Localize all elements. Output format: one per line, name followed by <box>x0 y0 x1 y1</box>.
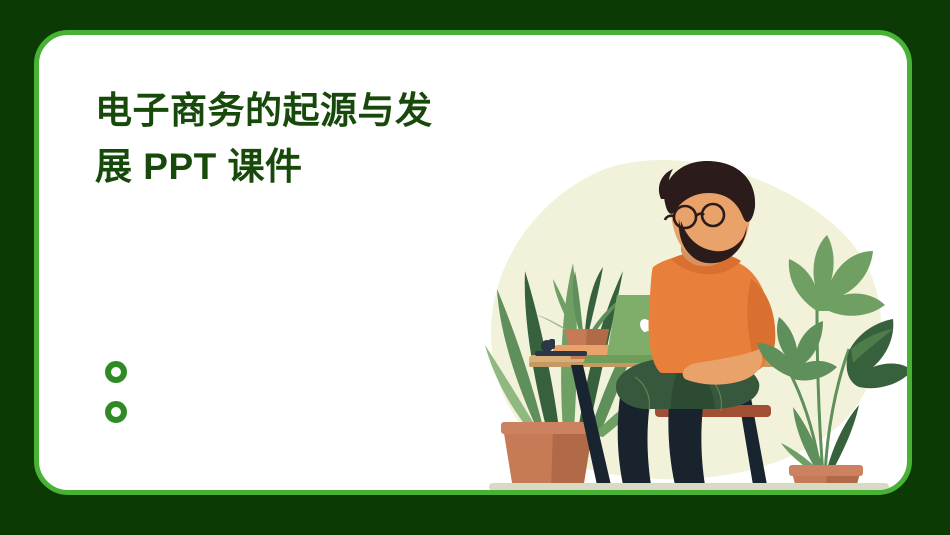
ring-icon-2 <box>105 401 127 423</box>
slide-content-card: 电子商务的起源与发 展 PPT 课件 <box>34 30 912 495</box>
presentation-slide: 电子商务的起源与发 展 PPT 课件 <box>0 0 950 535</box>
ground-line <box>489 483 889 491</box>
hero-illustration <box>475 159 912 495</box>
title-line-1: 电子商务的起源与发 <box>95 83 575 139</box>
ring-icon-1 <box>105 361 127 383</box>
decorative-rings <box>105 361 127 441</box>
